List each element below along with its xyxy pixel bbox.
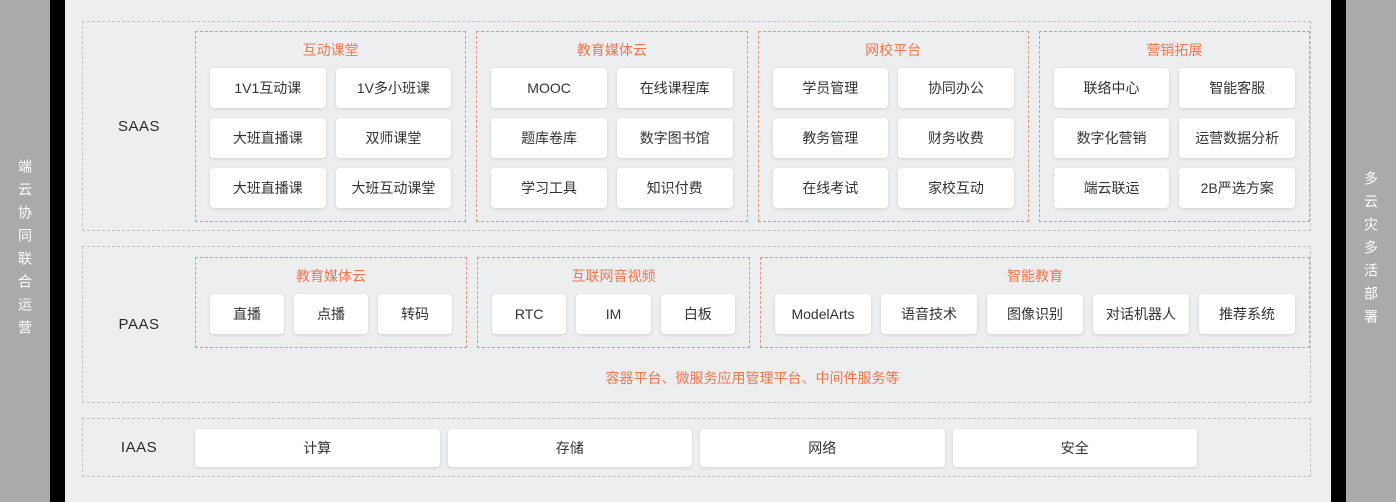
layer-paas: PAAS 教育媒体云 直播 点播 转码 互联网音视频 RTC — [82, 246, 1311, 403]
card-item[interactable]: 端云联运 — [1054, 168, 1170, 208]
layer-saas: SAAS 互动课堂 1V1互动课 1V多小班课 大班直播课 双师课堂 大班直播课… — [82, 21, 1311, 231]
group-cards: ModelArts 语音技术 图像识别 对话机器人 推荐系统 — [775, 294, 1295, 334]
layer-saas-label: SAAS — [83, 22, 195, 230]
card-item[interactable]: 网络 — [700, 429, 945, 467]
card-item[interactable]: 大班互动课堂 — [336, 168, 452, 208]
group-internet-audio-video: 互联网音视频 RTC IM 白板 — [477, 257, 750, 348]
card-item[interactable]: 1V多小班课 — [336, 68, 452, 108]
group-marketing-expansion: 营销拓展 联络中心 智能客服 数字化营销 运营数据分析 端云联运 2B严选方案 — [1039, 31, 1310, 222]
group-cards: MOOC 在线课程库 题库卷库 数字图书馆 学习工具 知识付费 — [491, 68, 732, 208]
layer-paas-body: 教育媒体云 直播 点播 转码 互联网音视频 RTC IM 白板 — [195, 247, 1310, 402]
card-item[interactable]: 2B严选方案 — [1179, 168, 1295, 208]
card-item[interactable]: 大班直播课 — [210, 168, 326, 208]
card-item[interactable]: IM — [576, 294, 650, 334]
saas-groups-row: 互动课堂 1V1互动课 1V多小班课 大班直播课 双师课堂 大班直播课 大班互动… — [195, 31, 1310, 222]
layer-iaas-body: 计算 存储 网络 安全 — [195, 419, 1310, 476]
layer-saas-body: 互动课堂 1V1互动课 1V多小班课 大班直播课 双师课堂 大班直播课 大班互动… — [195, 22, 1310, 230]
card-item[interactable]: 题库卷库 — [491, 118, 607, 158]
card-item[interactable]: 在线课程库 — [617, 68, 733, 108]
card-item[interactable]: 在线考试 — [773, 168, 889, 208]
left-rail-divider — [50, 0, 65, 502]
card-item[interactable]: 智能客服 — [1179, 68, 1295, 108]
card-item[interactable]: 财务收费 — [898, 118, 1014, 158]
card-item[interactable]: 对话机器人 — [1093, 294, 1189, 334]
group-intelligent-education: 智能教育 ModelArts 语音技术 图像识别 对话机器人 推荐系统 — [760, 257, 1310, 348]
paas-groups-row: 教育媒体云 直播 点播 转码 互联网音视频 RTC IM 白板 — [195, 257, 1310, 348]
group-education-media-cloud-paas: 教育媒体云 直播 点播 转码 — [195, 257, 467, 348]
card-item[interactable]: RTC — [492, 294, 566, 334]
left-rail: 端云协同联合运营 — [0, 0, 50, 502]
right-rail-divider — [1331, 0, 1346, 502]
group-education-media-cloud-saas: 教育媒体云 MOOC 在线课程库 题库卷库 数字图书馆 学习工具 知识付费 — [476, 31, 747, 222]
right-rail: 多云灾多活部署 — [1346, 0, 1396, 502]
card-item[interactable]: 学员管理 — [773, 68, 889, 108]
card-item[interactable]: 转码 — [378, 294, 452, 334]
card-item[interactable]: 运营数据分析 — [1179, 118, 1295, 158]
paas-footnote: 容器平台、微服务应用管理平台、中间件服务等 — [195, 348, 1310, 388]
group-interactive-classroom: 互动课堂 1V1互动课 1V多小班课 大班直播课 双师课堂 大班直播课 大班互动… — [195, 31, 466, 222]
layer-iaas: IAAS 计算 存储 网络 安全 — [82, 418, 1311, 477]
right-rail-label: 多云灾多活部署 — [1364, 171, 1378, 332]
card-item[interactable]: ModelArts — [775, 294, 871, 334]
card-item[interactable]: 白板 — [661, 294, 735, 334]
card-item[interactable]: 推荐系统 — [1199, 294, 1295, 334]
group-title: 智能教育 — [775, 267, 1295, 285]
card-item[interactable]: 语音技术 — [881, 294, 977, 334]
card-item[interactable]: 点播 — [294, 294, 368, 334]
card-item[interactable]: 1V1互动课 — [210, 68, 326, 108]
card-item[interactable]: 知识付费 — [617, 168, 733, 208]
group-online-school-platform: 网校平台 学员管理 协同办公 教务管理 财务收费 在线考试 家校互动 — [758, 31, 1029, 222]
card-item[interactable]: 大班直播课 — [210, 118, 326, 158]
card-item[interactable]: 存储 — [448, 429, 693, 467]
group-title: 教育媒体云 — [491, 41, 732, 59]
card-item[interactable]: 协同办公 — [898, 68, 1014, 108]
card-item[interactable]: 教务管理 — [773, 118, 889, 158]
group-title: 互动课堂 — [210, 41, 451, 59]
card-item[interactable]: 图像识别 — [987, 294, 1083, 334]
card-item[interactable]: 计算 — [195, 429, 440, 467]
card-item[interactable]: 联络中心 — [1054, 68, 1170, 108]
card-item[interactable]: 家校互动 — [898, 168, 1014, 208]
architecture-diagram: 端云协同联合运营 SAAS 互动课堂 1V1互动课 1V多小班课 大班直播课 双… — [0, 0, 1396, 502]
group-title: 互联网音视频 — [492, 267, 735, 285]
card-item[interactable]: 学习工具 — [491, 168, 607, 208]
group-title: 网校平台 — [773, 41, 1014, 59]
group-cards: 联络中心 智能客服 数字化营销 运营数据分析 端云联运 2B严选方案 — [1054, 68, 1295, 208]
group-title: 营销拓展 — [1054, 41, 1295, 59]
layers-container: SAAS 互动课堂 1V1互动课 1V多小班课 大班直播课 双师课堂 大班直播课… — [65, 0, 1331, 502]
group-cards: 学员管理 协同办公 教务管理 财务收费 在线考试 家校互动 — [773, 68, 1014, 208]
group-title: 教育媒体云 — [210, 267, 452, 285]
layer-iaas-label: IAAS — [83, 419, 195, 476]
card-item[interactable]: 数字化营销 — [1054, 118, 1170, 158]
group-cards: 直播 点播 转码 — [210, 294, 452, 334]
card-item[interactable]: MOOC — [491, 68, 607, 108]
group-cards: 1V1互动课 1V多小班课 大班直播课 双师课堂 大班直播课 大班互动课堂 — [210, 68, 451, 208]
card-item[interactable]: 安全 — [953, 429, 1198, 467]
card-item[interactable]: 直播 — [210, 294, 284, 334]
left-rail-label: 端云协同联合运营 — [18, 159, 32, 343]
card-item[interactable]: 双师课堂 — [336, 118, 452, 158]
group-cards: RTC IM 白板 — [492, 294, 735, 334]
layer-paas-label: PAAS — [83, 247, 195, 402]
card-item[interactable]: 数字图书馆 — [617, 118, 733, 158]
